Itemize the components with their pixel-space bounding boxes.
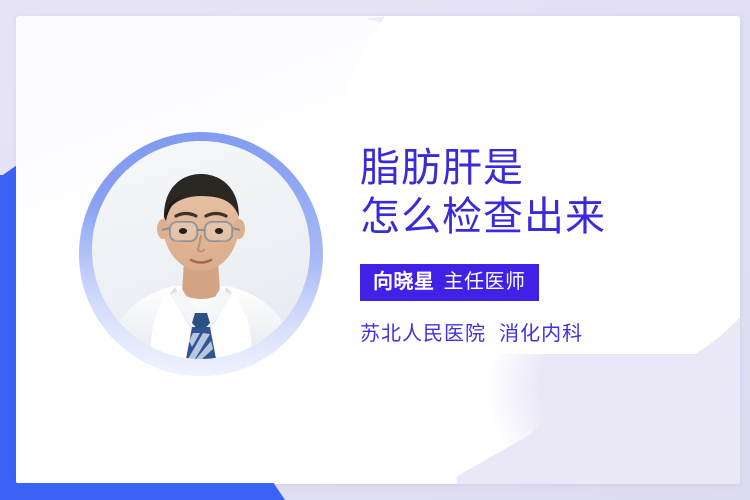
hospital-name: 苏北人民医院 bbox=[360, 323, 486, 345]
headline-line-2: 怎么检查出来 bbox=[360, 193, 690, 242]
accent-bar-left bbox=[0, 175, 17, 500]
doctor-name: 向晓星 bbox=[373, 271, 435, 293]
decorative-bottom-glow bbox=[490, 354, 740, 484]
video-thumbnail-card: 脂肪肝是 怎么检查出来 向晓星主任医师 苏北人民医院 消化内科 bbox=[0, 0, 750, 500]
text-column: 脂肪肝是 怎么检查出来 向晓星主任医师 苏北人民医院 消化内科 bbox=[360, 144, 690, 347]
department-name: 消化内科 bbox=[499, 323, 583, 345]
doctor-title: 主任医师 bbox=[444, 271, 526, 293]
doctor-credential-badge: 向晓星主任医师 bbox=[360, 264, 539, 301]
avatar-photo bbox=[92, 141, 310, 359]
affiliation-line: 苏北人民医院 消化内科 bbox=[360, 321, 690, 347]
avatar bbox=[79, 132, 323, 376]
doctor-portrait-illustration bbox=[92, 141, 310, 359]
headline-line-1: 脂肪肝是 bbox=[360, 144, 690, 193]
accent-bar-bottom bbox=[0, 483, 285, 500]
content-card: 脂肪肝是 怎么检查出来 向晓星主任医师 苏北人民医院 消化内科 bbox=[16, 16, 740, 484]
